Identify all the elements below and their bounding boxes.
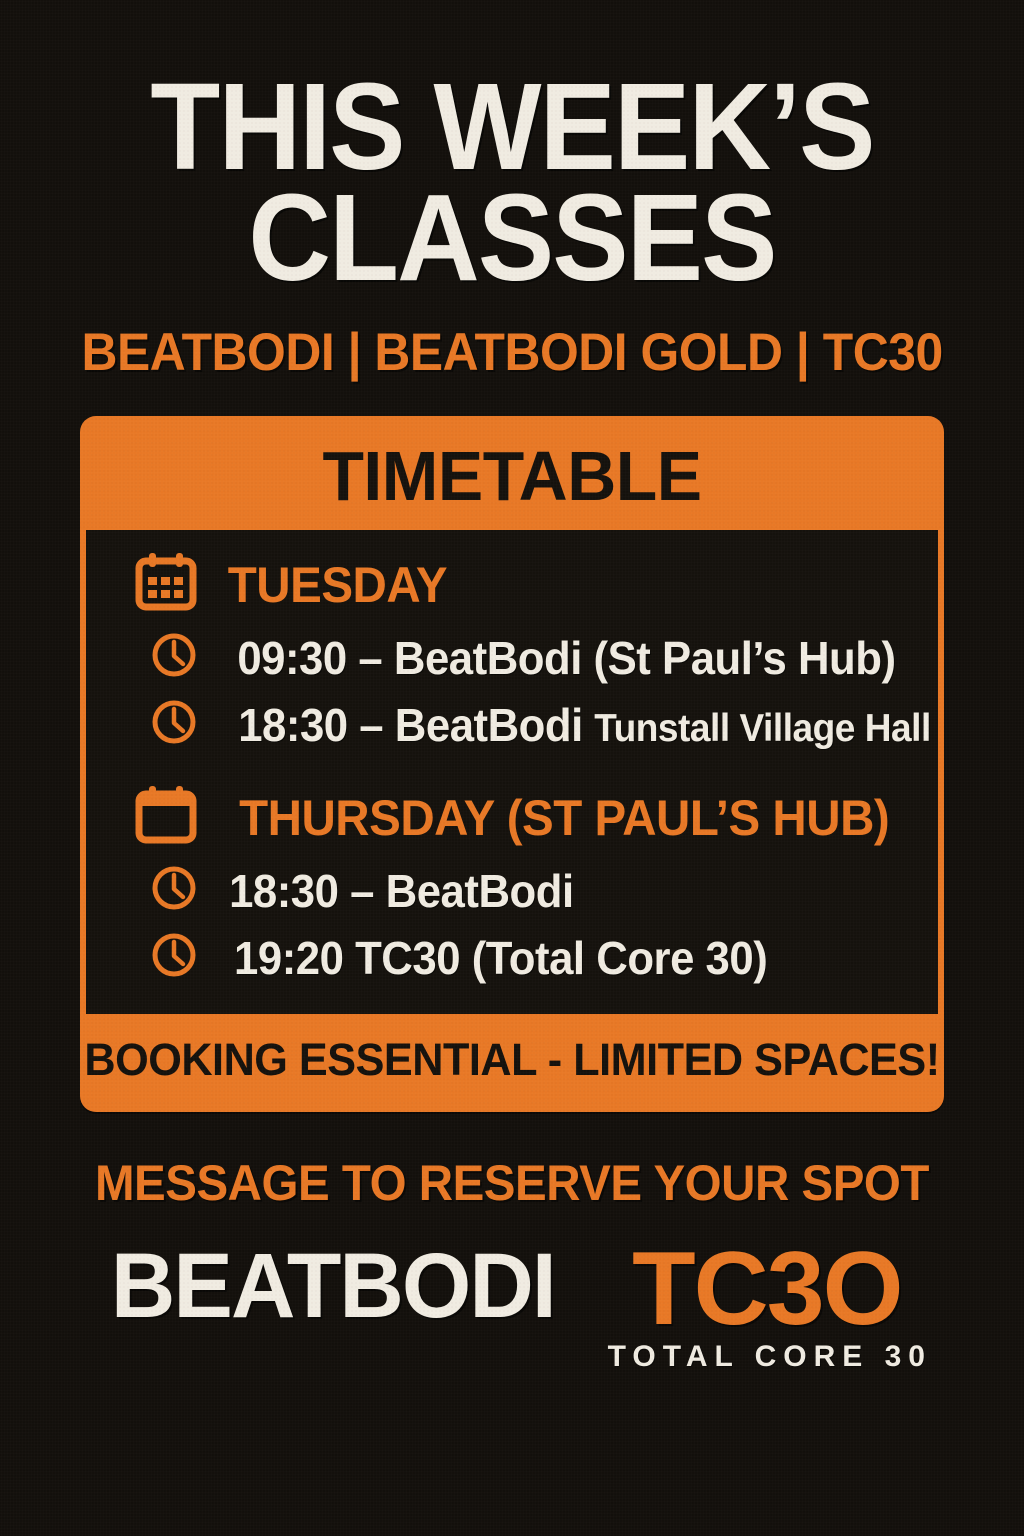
clock-icon	[150, 631, 198, 684]
timetable-body: TUESDAY 09:30 – BeatBodi (St Paul’s Hub)	[86, 530, 938, 1014]
timetable-header: TIMETABLE	[99, 422, 925, 530]
poster-root: THIS WEEK’S CLASSES BEATBODI | BEATBODI …	[0, 0, 1024, 1536]
class-row: 18:30 – BeatBodiTunstall Village Hall	[86, 698, 938, 751]
timetable-card: TIMETABLE TUES	[80, 416, 944, 1112]
beatbodi-logo: BEATBODI	[111, 1240, 555, 1332]
tc30-logo: TC3O TOTAL CORE 30	[602, 1240, 932, 1372]
class-text: 18:30 – BeatBodi	[229, 868, 574, 914]
class-row: 19:20 TC30 (Total Core 30)	[86, 931, 938, 984]
day-header-thursday: THURSDAY (ST PAUL’S HUB)	[86, 785, 938, 850]
tc30-logo-main: TC3O	[602, 1242, 932, 1338]
clock-icon	[150, 931, 198, 984]
calendar-grid-icon	[134, 552, 198, 617]
clock-icon	[150, 698, 198, 751]
clock-icon	[150, 864, 198, 917]
logo-row: BEATBODI TC3O TOTAL CORE 30	[80, 1240, 944, 1372]
class-venue: Tunstall Village Hall	[594, 707, 931, 750]
page-title-line1: THIS WEEK’S	[36, 74, 988, 181]
class-text: 18:30 – BeatBodiTunstall Village Hall	[238, 702, 931, 748]
tc30-logo-sub: TOTAL CORE 30	[602, 1342, 932, 1372]
call-to-action: MESSAGE TO RESERVE YOUR SPOT	[95, 1154, 929, 1212]
calendar-plain-icon	[134, 785, 198, 850]
class-time-name: 18:30 – BeatBodi	[238, 699, 583, 751]
class-row: 18:30 – BeatBodi	[86, 864, 938, 917]
day-label-thursday: THURSDAY (ST PAUL’S HUB)	[239, 793, 889, 843]
subtitle-brands: BEATBODI | BEATBODI GOLD | TC30	[81, 326, 942, 379]
class-text: 09:30 – BeatBodi (St Paul’s Hub)	[237, 635, 895, 681]
class-text: 19:20 TC30 (Total Core 30)	[234, 935, 767, 981]
day-label-tuesday: TUESDAY	[228, 560, 447, 610]
class-row: 09:30 – BeatBodi (St Paul’s Hub)	[86, 631, 938, 684]
page-title-line2: CLASSES	[36, 185, 988, 292]
booking-notice: BOOKING ESSENTIAL - LIMITED SPACES!	[103, 1014, 921, 1106]
day-header-tuesday: TUESDAY	[86, 552, 938, 617]
